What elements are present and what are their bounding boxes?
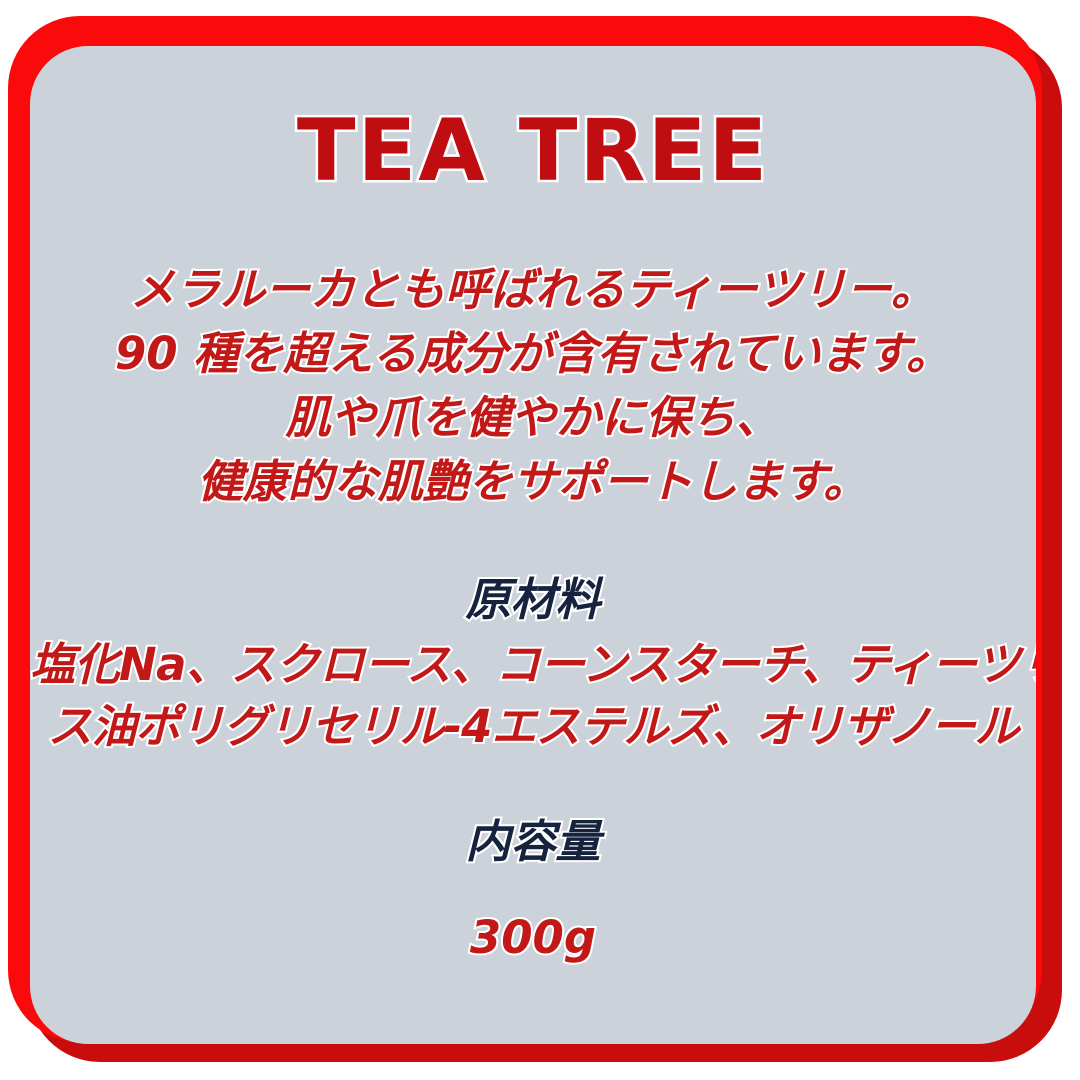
description-block: メラルーカとも呼ばれるティーツリー。 90 種を超える成分が含有されています。 … [30,258,1036,514]
description-line: 健康的な肌艶をサポートします。 [30,450,1036,514]
card-inner-panel: TEA TREE メラルーカとも呼ばれるティーツリー。 90 種を超える成分が含… [30,46,1036,1044]
description-line: メラルーカとも呼ばれるティーツリー。 [30,258,1036,322]
page-title: TEA TREE [30,108,1036,194]
product-label-canvas: TEA TREE メラルーカとも呼ばれるティーツリー。 90 種を超える成分が含… [0,0,1080,1080]
net-weight-label: 内容量 [30,811,1036,873]
net-weight-block: 内容量 300g [30,811,1036,969]
description-line: 90 種を超える成分が含有されています。 [30,322,1036,386]
net-weight-value: 300g [30,907,1036,969]
ingredients-line: ス油ポリグリセリル-4エステルズ、オリザノール [30,696,1036,758]
ingredients-line: 塩化Na、スクロース、コーンスターチ、ティーツリー葉油、ババ [30,634,1036,696]
ingredients-heading: 原材料 [30,569,1036,631]
card-red-border: TEA TREE メラルーカとも呼ばれるティーツリー。 90 種を超える成分が含… [8,16,1042,1042]
label-content: TEA TREE メラルーカとも呼ばれるティーツリー。 90 種を超える成分が含… [30,46,1036,1044]
description-line: 肌や爪を健やかに保ち、 [30,386,1036,450]
ingredients-block: 塩化Na、スクロース、コーンスターチ、ティーツリー葉油、ババ ス油ポリグリセリル… [30,634,1036,758]
